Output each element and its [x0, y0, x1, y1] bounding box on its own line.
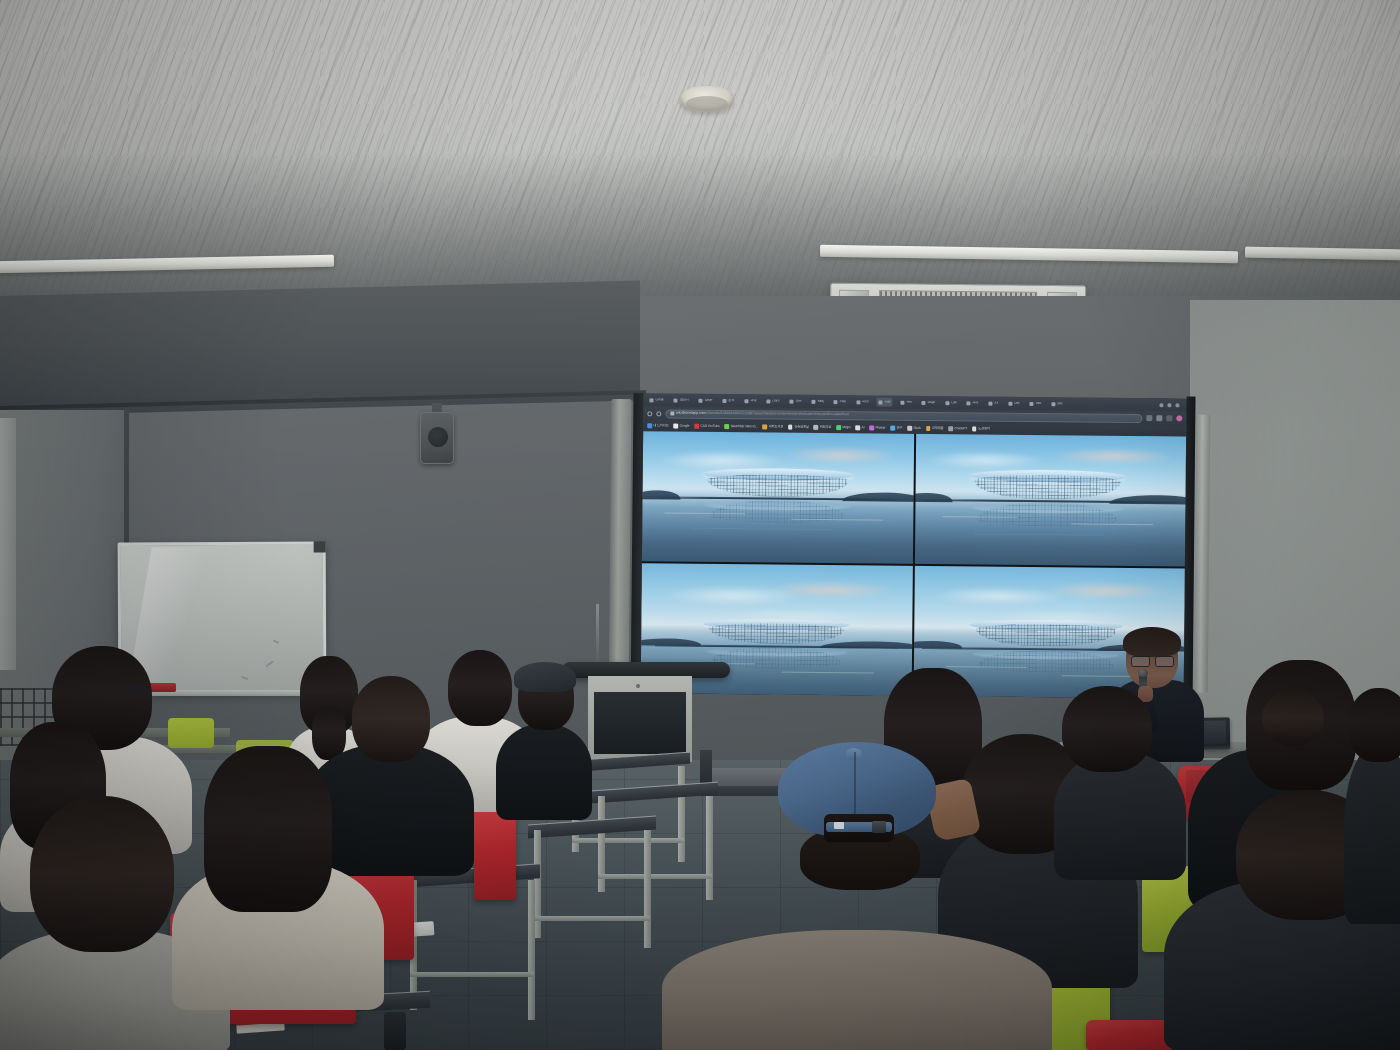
bookmark-item[interactable]: 대학도서관 — [763, 425, 784, 430]
bookmark-label: 대학도서관 — [769, 425, 783, 428]
whiteboard-smudge — [241, 676, 248, 680]
lectern-indicator-icon — [636, 684, 640, 688]
browser-tab-label: 자료 — [885, 400, 891, 403]
tab-favicon-icon — [988, 401, 992, 405]
screen-roller-left — [609, 399, 632, 689]
browser-tab[interactable]: Lab — [943, 398, 958, 407]
bookmark-star-icon[interactable] — [1156, 415, 1162, 421]
tab-favicon-icon — [722, 399, 726, 403]
browser-tab[interactable]: Doc — [1006, 399, 1022, 408]
tab-favicon-icon — [879, 400, 883, 404]
bookmark-favicon-icon — [926, 426, 931, 431]
browser-tab[interactable]: Drive — [697, 396, 715, 405]
bookmark-favicon-icon — [972, 427, 977, 432]
bookmark-item[interactable]: CAD YouTube — [694, 424, 719, 429]
desk-leg — [534, 830, 541, 938]
browser-tab-label: Dsgn — [928, 401, 936, 404]
bookmark-item[interactable]: 연구 — [890, 426, 902, 431]
classroom-photo: Gmail캘린더Drive문서과제DocsGenMidjPlanArch자료Re… — [0, 0, 1400, 1050]
tab-favicon-icon — [1008, 401, 1012, 405]
window-controls[interactable] — [1159, 403, 1182, 407]
bookmark-favicon-icon — [647, 424, 652, 429]
browser-tab[interactable]: Plan — [832, 397, 848, 406]
tab-favicon-icon — [922, 400, 926, 404]
lectern-monitor — [594, 692, 686, 754]
browser-tab-label: Arch — [862, 400, 869, 403]
browser-tab-label: Gmail — [655, 398, 663, 401]
bookmark-favicon-icon — [763, 425, 768, 430]
bookmark-item[interactable]: 노션정리 — [972, 427, 990, 432]
bookmark-favicon-icon — [948, 426, 953, 431]
browser-tab[interactable]: 과제 — [742, 396, 758, 405]
baseball-cap — [778, 742, 936, 854]
browser-tab[interactable]: AI 8 — [964, 398, 980, 407]
cap-brand-tag — [834, 822, 844, 829]
bookmark-item[interactable]: Google — [673, 424, 689, 429]
door-frame — [0, 418, 16, 670]
smoke-detector-icon — [680, 86, 734, 112]
tab-favicon-icon — [901, 400, 905, 404]
presenter-hair — [1123, 627, 1181, 657]
tab-favicon-icon — [834, 400, 838, 404]
bookmark-item[interactable]: ChatGPT — [948, 426, 967, 431]
address-bar-text: ark.discordapp.com/channels/1081834/8347… — [676, 412, 849, 417]
desk-leg — [706, 796, 713, 900]
browser-tab-label: Midj — [818, 400, 824, 403]
desk-rail — [598, 874, 712, 879]
browser-tab-label: AI 8 — [973, 401, 979, 404]
bookmark-label: 노션정리 — [978, 427, 990, 430]
browser-tab-label: Site — [1057, 402, 1062, 405]
browser-tab[interactable]: Arch — [854, 397, 871, 406]
browser-tab[interactable]: 문서 — [720, 396, 736, 405]
browser-tab-label: Drive — [705, 399, 712, 402]
tab-favicon-icon — [967, 401, 971, 405]
tab-favicon-icon — [699, 398, 703, 402]
bookmark-item[interactable]: 과제제출 — [926, 426, 944, 431]
desk-leg — [644, 830, 651, 948]
browser-tab-label: Info — [1036, 402, 1041, 405]
browser-tab[interactable]: 캘린더 — [672, 396, 691, 405]
bookmark-favicon-icon — [890, 426, 895, 431]
lectern-microphone-antenna — [596, 604, 599, 666]
browser-tab-label: X3 — [994, 401, 998, 404]
browser-tab-label: Ref — [907, 401, 912, 404]
bookmark-label: 과제제출 — [932, 427, 944, 430]
minimize-icon[interactable] — [1159, 403, 1163, 407]
browser-tab-label: Lab — [951, 401, 956, 404]
browser-tab[interactable]: Midj — [810, 397, 826, 406]
bookmark-label: Plaskpr — [875, 426, 885, 429]
bookmark-favicon-icon — [788, 425, 793, 430]
bookmark-label: 건축설계실 — [794, 426, 808, 429]
tab-favicon-icon — [1051, 402, 1055, 406]
bookmark-label: Slack — [913, 427, 920, 430]
bookmark-favicon-icon — [814, 425, 819, 430]
render-panel-top-right[interactable] — [914, 434, 1186, 567]
bookmark-label: 내 드라이브 — [653, 424, 668, 427]
glasses-icon — [1131, 656, 1174, 666]
chair-red — [474, 808, 516, 900]
bookmark-favicon-icon — [694, 424, 699, 429]
bookmark-label: CAD YouTube — [700, 425, 719, 428]
render-grid — [641, 431, 1186, 698]
tab-favicon-icon — [945, 401, 949, 405]
whiteboard-corner-bracket — [314, 541, 326, 552]
bookmark-label: 연구 — [897, 427, 903, 430]
screen-surface: Gmail캘린더Drive문서과제DocsGenMidjPlanArch자료Re… — [641, 393, 1187, 698]
browser-tab[interactable]: Info — [1028, 399, 1043, 408]
tumbler — [384, 1012, 406, 1050]
bookmark-label: ChatGPT — [954, 427, 967, 430]
desk-rail — [572, 838, 684, 843]
tab-favicon-icon — [790, 399, 794, 403]
bookmark-item[interactable]: Slack — [907, 426, 920, 431]
bookmark-item[interactable]: Sketchfab Video D... — [725, 424, 758, 429]
tab-favicon-icon — [856, 400, 860, 404]
cap-dark — [514, 662, 576, 692]
desk-leg — [678, 766, 685, 862]
bookmark-favicon-icon — [836, 425, 841, 430]
tab-favicon-icon — [1030, 401, 1034, 405]
whiteboard-eraser — [148, 683, 176, 692]
menu-icon[interactable] — [1166, 415, 1172, 421]
profile-avatar-icon[interactable] — [1176, 415, 1182, 421]
chair-green-background — [168, 718, 214, 748]
whiteboard-smudge — [266, 660, 274, 667]
browser-tab-label: 과제 — [750, 399, 756, 402]
bookmark-label: 학회자료 — [820, 426, 832, 429]
bookmark-favicon-icon — [725, 424, 730, 429]
browser-tab-label: Doc — [1014, 402, 1020, 405]
desk-leg — [528, 880, 535, 1020]
browser-tab[interactable]: 자료 — [877, 398, 893, 407]
whiteboard — [118, 541, 327, 694]
browser-tab-label: 문서 — [728, 399, 734, 402]
close-icon[interactable] — [1175, 403, 1179, 407]
back-arrow-icon[interactable] — [647, 411, 652, 416]
lock-icon — [670, 412, 674, 416]
bookmark-favicon-icon — [869, 426, 874, 431]
browser-tab-label: Gen — [796, 400, 802, 403]
tab-favicon-icon — [674, 398, 678, 402]
cap-buckle — [872, 821, 886, 833]
tab-favicon-icon — [649, 398, 653, 402]
browser-tab[interactable]: X3 — [986, 399, 1000, 408]
browser-tab[interactable]: Site — [1049, 399, 1065, 408]
glasses-icon — [128, 684, 146, 692]
bookmark-item[interactable]: 학회자료 — [814, 425, 832, 430]
tab-favicon-icon — [812, 399, 816, 403]
maximize-icon[interactable] — [1167, 403, 1171, 407]
whiteboard-smudge — [273, 639, 279, 644]
browser-tab-label: Docs — [772, 399, 779, 402]
bookmark-label: Google — [680, 424, 690, 427]
browser-tab[interactable]: Dsgn — [920, 398, 938, 407]
tab-favicon-icon — [744, 399, 748, 403]
browser-tab[interactable]: Gmail — [647, 395, 665, 404]
browser-tab[interactable]: Ref — [899, 398, 914, 407]
desk-rail — [410, 972, 534, 977]
extension-icon[interactable] — [1146, 415, 1152, 421]
tab-favicon-icon — [766, 399, 770, 403]
desk-rail — [534, 916, 650, 921]
browser-tab-label: 캘린더 — [680, 398, 689, 401]
bookmark-item[interactable]: Plaskpr — [869, 426, 885, 431]
bookmark-label: Midjrn — [842, 426, 850, 429]
bookmark-item[interactable]: AI — [855, 426, 864, 431]
browser-tab-label: Plan — [840, 400, 846, 403]
reload-icon[interactable] — [656, 411, 661, 416]
bookmark-favicon-icon — [907, 426, 912, 431]
wall-speaker — [420, 412, 454, 464]
bookmark-item[interactable]: 건축설계실 — [788, 425, 809, 430]
bookmark-favicon-icon — [855, 426, 860, 431]
bookmark-favicon-icon — [673, 424, 678, 429]
bookmark-item[interactable]: Midjrn — [836, 425, 850, 430]
bookmark-label: Sketchfab Video D... — [731, 425, 758, 429]
bookmark-item[interactable]: 내 드라이브 — [647, 424, 668, 429]
bookmark-label: AI — [862, 426, 865, 429]
browser-tab[interactable]: Gen — [788, 397, 804, 406]
render-panel-top-left[interactable] — [642, 431, 914, 564]
browser-tab[interactable]: Docs — [764, 396, 781, 405]
